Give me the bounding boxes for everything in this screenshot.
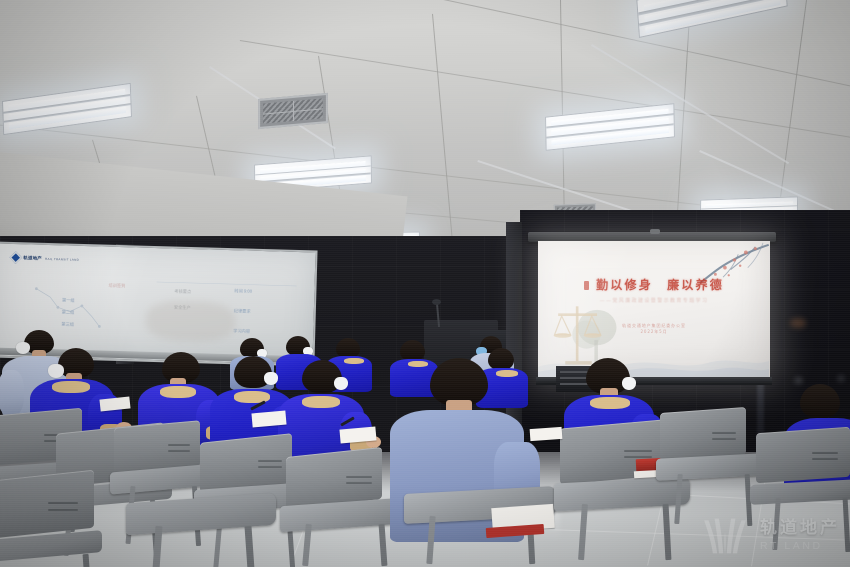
slide-footer: 轨道交通地产集团纪委办公室 2022年5月 <box>538 323 770 336</box>
paper-sheet <box>251 411 286 428</box>
watermark-en-text: RT LAND <box>760 541 840 552</box>
wall-reflection-spot <box>790 318 806 328</box>
watermark: 轨道地产 RT LAND <box>699 515 840 557</box>
watermark-cn-text: 轨道地产 <box>760 520 840 537</box>
ceiling-light-fixture <box>2 83 132 135</box>
paper-sheet <box>530 427 563 441</box>
photo-scene: 轨道地产 RAIL TRANSIT LAND 培训签到 第一组 第二组 第三组 … <box>0 0 850 567</box>
seal-icon <box>584 281 589 290</box>
wall-reflection-spot <box>838 376 844 381</box>
ceiling-light-fixture <box>545 103 675 151</box>
slide-title-text: 勤以修身 廉以养德 <box>596 278 724 292</box>
screen-mount-bracket <box>650 229 660 234</box>
microphone-icon <box>432 299 441 305</box>
slide-subtitle: ——党风廉政建设暨警示教育专题学习 <box>538 297 770 304</box>
wall-reflection-spot <box>795 378 802 383</box>
slide-title: 勤以修身 廉以养德 <box>538 276 770 293</box>
projection-screen: 勤以修身 廉以养德 ——党风廉政建设暨警示教育专题学习 轨道交通地产集团纪委办公… <box>538 241 770 377</box>
slide-footer-line2: 2022年5月 <box>538 329 770 335</box>
ceiling-light-fixture <box>636 0 787 38</box>
ac-vent <box>258 93 328 129</box>
fan-logo-icon <box>699 515 751 557</box>
